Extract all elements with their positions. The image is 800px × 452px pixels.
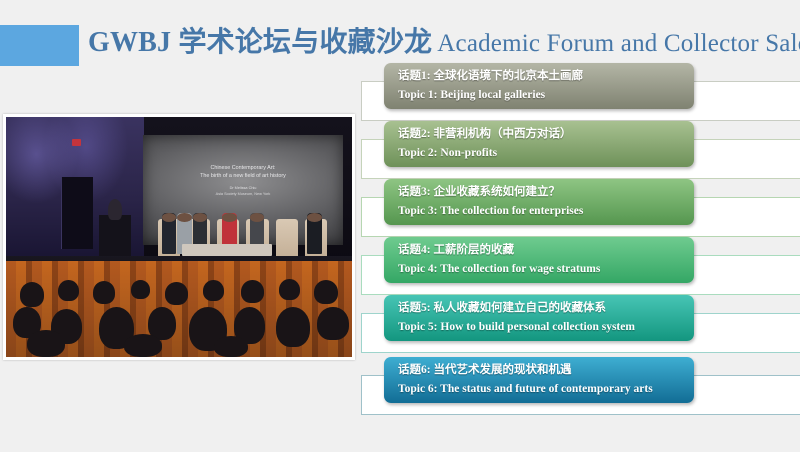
presentation-slide: GWBJ 学术论坛与收藏沙龙Academic Forum and Collect… [0, 0, 800, 452]
topic-row[interactable]: 话题6: 当代艺术发展的现状和机遇 Topic 6: The status an… [361, 357, 800, 410]
topic-box-4[interactable]: 话题4: 工薪阶层的收藏 Topic 4: The collection for… [384, 237, 694, 283]
topic-box-5[interactable]: 话题5: 私人收藏如何建立自己的收藏体系 Topic 5: How to bui… [384, 295, 694, 341]
event-photo: Chinese Contemporary Art: The birth of a… [3, 114, 355, 360]
topic-2-chinese: 话题2: 非营利机构（中西方对话） [398, 125, 694, 144]
panelist-chair [276, 219, 298, 260]
panelist [162, 213, 177, 254]
topic-row[interactable]: 话题4: 工薪阶层的收藏 Topic 4: The collection for… [361, 237, 800, 290]
topic-1-chinese: 话题1: 全球化语境下的北京本土画廊 [398, 67, 694, 86]
topic-3-english: Topic 3: The collection for enterprises [398, 202, 694, 221]
topic-3-chinese: 话题3: 企业收藏系统如何建立？ [398, 183, 694, 202]
topic-box-2[interactable]: 话题2: 非营利机构（中西方对话） Topic 2: Non-profits [384, 121, 694, 167]
slide-line-2: The birth of a new field of art history [143, 173, 344, 181]
topic-1-english: Topic 1: Beijing local galleries [398, 86, 694, 105]
page-title: GWBJ 学术论坛与收藏沙龙Academic Forum and Collect… [88, 21, 800, 65]
topic-row[interactable]: 话题3: 企业收藏系统如何建立？ Topic 3: The collection… [361, 179, 800, 232]
audience-heads [6, 261, 352, 357]
event-photo-image: Chinese Contemporary Art: The birth of a… [6, 117, 352, 357]
topic-4-english: Topic 4: The collection for wage stratum… [398, 260, 694, 279]
speaker-at-podium [108, 199, 122, 221]
topic-6-chinese: 话题6: 当代艺术发展的现状和机遇 [398, 361, 694, 380]
slide-line-4: Asia Society Museum, New York [143, 192, 344, 198]
panelist [307, 213, 322, 254]
topic-6-english: Topic 6: The status and future of contem… [398, 380, 694, 399]
title-accent-bar [0, 25, 79, 66]
slide-line-1: Chinese Contemporary Art: [143, 165, 344, 173]
topic-4-chinese: 话题4: 工薪阶层的收藏 [398, 241, 694, 260]
topic-row[interactable]: 话题2: 非营利机构（中西方对话） Topic 2: Non-profits [361, 121, 800, 174]
topic-box-6[interactable]: 话题6: 当代艺术发展的现状和机遇 Topic 6: The status an… [384, 357, 694, 403]
topic-box-3[interactable]: 话题3: 企业收藏系统如何建立？ Topic 3: The collection… [384, 179, 694, 225]
topic-row[interactable]: 话题1: 全球化语境下的北京本土画廊 Topic 1: Beijing loca… [361, 63, 800, 116]
page-title-chinese: GWBJ 学术论坛与收藏沙龙 [88, 27, 432, 58]
topic-5-chinese: 话题5: 私人收藏如何建立自己的收藏体系 [398, 299, 694, 318]
topic-2-english: Topic 2: Non-profits [398, 144, 694, 163]
page-title-english: Academic Forum and Collector Salon [432, 30, 800, 57]
auditorium-door [61, 177, 93, 249]
exit-sign-icon [72, 139, 81, 146]
projection-screen-text: Chinese Contemporary Art: The birth of a… [143, 165, 344, 198]
panel-table [182, 244, 272, 256]
topic-box-1[interactable]: 话题1: 全球化语境下的北京本土画廊 Topic 1: Beijing loca… [384, 63, 694, 109]
topic-row[interactable]: 话题5: 私人收藏如何建立自己的收藏体系 Topic 5: How to bui… [361, 295, 800, 348]
topic-5-english: Topic 5: How to build personal collectio… [398, 318, 694, 337]
